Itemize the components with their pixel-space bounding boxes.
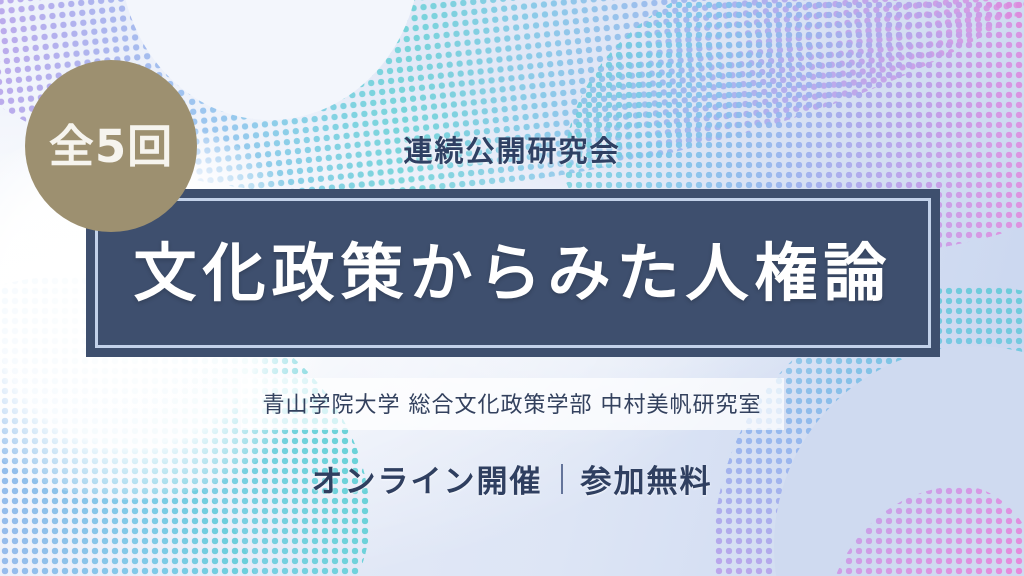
footer-separator-icon [561, 464, 563, 494]
event-format-label: オンライン開催 [312, 456, 543, 501]
session-count-badge-label: 全5回 [49, 124, 173, 169]
title-frame-inner-border: 文化政策からみた人権論 [95, 198, 931, 348]
event-fee-label: 参加無料 [581, 456, 713, 501]
seminar-poster: 連続公開研究会 文化政策からみた人権論 全5回 青山学院大学 総合文化政策学部 … [0, 0, 1024, 576]
event-details-row: オンライン開催 参加無料 [0, 456, 1024, 501]
poster-content: 連続公開研究会 文化政策からみた人権論 全5回 青山学院大学 総合文化政策学部 … [0, 0, 1024, 576]
title-frame: 文化政策からみた人権論 [86, 189, 940, 357]
page-title: 文化政策からみた人権論 [134, 242, 893, 305]
affiliation-label: 青山学院大学 総合文化政策学部 中村美帆研究室 [241, 378, 784, 430]
affiliation-row: 青山学院大学 総合文化政策学部 中村美帆研究室 [0, 378, 1024, 430]
session-count-badge: 全5回 [25, 60, 197, 232]
